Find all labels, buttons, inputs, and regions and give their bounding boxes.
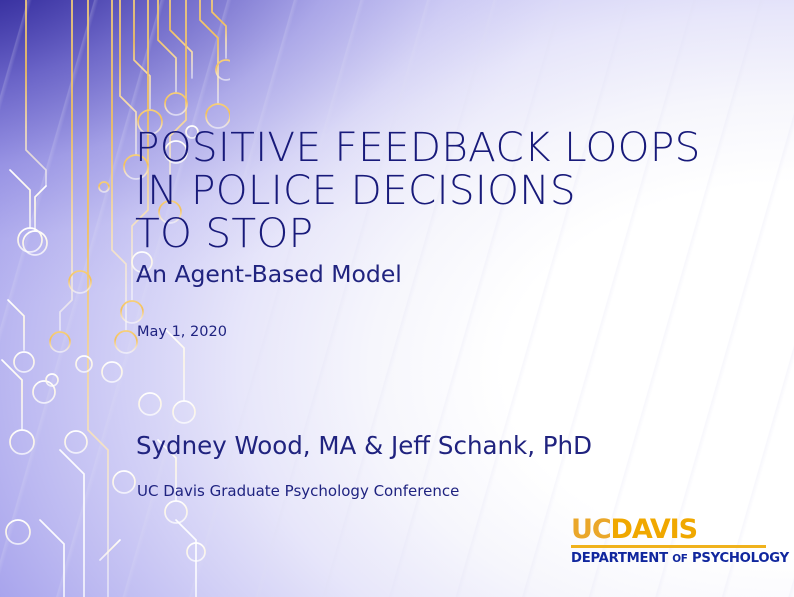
logo-psychology-word: PSYCHOLOGY [692,551,789,566]
slide-date: May 1, 2020 [137,322,227,342]
page-title: Positive Feedback Loops in Police Decisi… [135,126,710,255]
logo-department-line: DEPARTMENT OF PSYCHOLOGY [571,550,766,568]
logo-uc-text: UC [571,514,611,545]
logo-of-word: OF [672,553,687,565]
logo-davis-text: DAVIS [611,514,697,545]
logo-department-word: DEPARTMENT [571,551,668,566]
presenter-names: Sydney Wood, MA & Jeff Schank, PhD [136,431,592,461]
title-slide: Positive Feedback Loops in Police Decisi… [0,0,794,597]
uc-davis-logo: UCDAVIS DEPARTMENT OF PSYCHOLOGY [571,515,766,568]
slide-text-content: Positive Feedback Loops in Police Decisi… [135,0,735,597]
uc-davis-wordmark: UCDAVIS [571,515,766,544]
conference-affiliation: UC Davis Graduate Psychology Conference [137,480,459,502]
logo-divider-rule [571,545,766,548]
slide-subtitle: An Agent-Based Model [136,260,402,288]
